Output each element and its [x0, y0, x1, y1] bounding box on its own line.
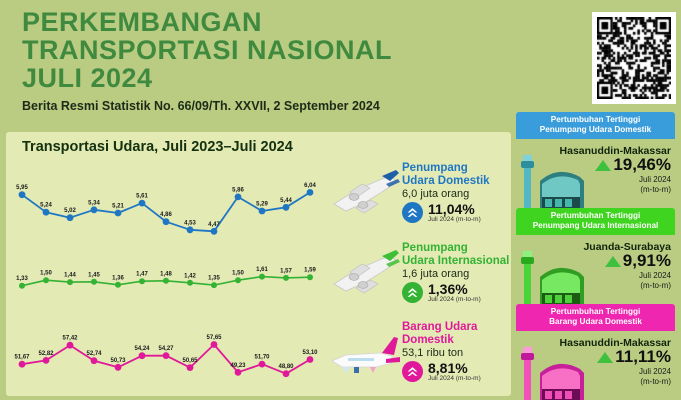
card-info: Hasanuddin-Makassar 11,11% Juli 2024 (m-… [559, 337, 671, 386]
svg-text:5,24: 5,24 [40, 203, 52, 209]
callout-text: Penumpang Udara Internasional 1,6 juta o… [402, 242, 511, 303]
card-header-line-1: Pertumbuhan Tertinggi [551, 211, 640, 220]
card-percent: 19,46% [613, 156, 671, 174]
callout-percent: 8,81% [428, 361, 481, 375]
header: PERKEMBANGAN TRANSPORTASI NASIONAL JULI … [0, 0, 681, 120]
card-body: Hasanuddin-Makassar 11,11% Juli 2024 (m-… [516, 331, 675, 400]
page-title: PERKEMBANGAN TRANSPORTASI NASIONAL JULI … [22, 8, 522, 113]
svg-text:1,36: 1,36 [112, 275, 124, 281]
card-date-sub: (m-to-m) [559, 185, 671, 194]
svg-text:4,53: 4,53 [184, 220, 196, 226]
card-info: Hasanuddin-Makassar 19,46% Juli 2024 (m-… [559, 145, 671, 194]
chart-series-svg: 5,955,245,025,345,215,614,864,534,475,86… [6, 160, 326, 396]
title-line-1: PERKEMBANGAN [22, 8, 522, 36]
svg-text:51,67: 51,67 [14, 355, 30, 361]
double-chevron-up-icon [402, 361, 423, 382]
svg-text:54,27: 54,27 [158, 346, 174, 352]
callout-title-line-1: Penumpang [402, 242, 511, 255]
svg-text:51,70: 51,70 [254, 355, 270, 361]
svg-text:5,21: 5,21 [112, 204, 124, 210]
svg-text:1,35: 1,35 [208, 276, 220, 282]
svg-text:1,50: 1,50 [232, 271, 244, 277]
svg-text:5,86: 5,86 [232, 187, 244, 193]
svg-text:1,48: 1,48 [160, 271, 172, 277]
callout-barang-udara-domestik: Barang Udara Domestik 53,1 ribu ton 8,81… [326, 319, 511, 396]
svg-text:1,47: 1,47 [136, 272, 148, 278]
plane-green-icon [326, 244, 404, 306]
svg-text:1,42: 1,42 [184, 273, 196, 279]
double-chevron-up-icon [402, 202, 423, 223]
svg-text:5,61: 5,61 [136, 194, 148, 200]
svg-text:52,74: 52,74 [86, 351, 102, 357]
triangle-up-icon [605, 256, 621, 267]
triangle-up-icon [595, 160, 611, 171]
svg-text:54,24: 54,24 [134, 346, 150, 352]
card-body: Juanda-Surabaya 9,91% Juli 2024 (m-to-m) [516, 235, 675, 304]
svg-text:1,61: 1,61 [256, 267, 268, 273]
callout-penumpang-udara-domestik: Penumpang Udara Domestik 6,0 juta orang … [326, 160, 511, 239]
callout-value: 53,1 ribu ton [402, 347, 511, 359]
callout-period: Juli 2024 (m-to-m) [428, 296, 481, 303]
card-percent: 11,11% [615, 348, 671, 366]
card-header-line-2: Penumpang Udara Internasional [533, 221, 659, 230]
card-date-sub: (m-to-m) [559, 377, 671, 386]
card-pertumbuhan-penumpang-udara-domestik: Pertumbuhan Tertinggi Penumpang Udara Do… [516, 112, 675, 208]
svg-text:5,02: 5,02 [64, 208, 76, 214]
card-info: Juanda-Surabaya 9,91% Juli 2024 (m-to-m) [559, 241, 671, 290]
callout-title-line-1: Barang Udara [402, 321, 511, 334]
callout-title-line-2: Domestik [402, 334, 511, 347]
svg-text:4,86: 4,86 [160, 212, 172, 218]
qr-code-canvas [597, 17, 671, 99]
qr-code-icon[interactable] [592, 12, 676, 104]
svg-text:50,73: 50,73 [110, 358, 126, 364]
svg-text:57,42: 57,42 [62, 336, 78, 342]
svg-text:50,65: 50,65 [182, 358, 198, 364]
subtitle: Berita Resmi Statistik No. 66/09/Th. XXV… [22, 99, 522, 113]
callout-text: Penumpang Udara Domestik 6,0 juta orang … [402, 162, 511, 223]
callout-title-line-2: Udara Internasional [402, 255, 511, 268]
card-percent: 9,91% [623, 252, 671, 270]
callout-penumpang-udara-internasional: Penumpang Udara Internasional 1,6 juta o… [326, 240, 511, 319]
callout-value: 6,0 juta orang [402, 188, 511, 200]
line-chart-plot: 5,955,245,025,345,215,614,864,534,475,86… [6, 160, 326, 396]
card-header-line-1: Pertumbuhan Tertinggi [551, 115, 640, 124]
callout-title-line-2: Udara Domestik [402, 175, 511, 188]
card-header-line-2: Barang Udara Domestik [549, 317, 642, 326]
title-line-2: TRANSPORTASI NASIONAL [22, 36, 522, 64]
card-header-line-1: Pertumbuhan Tertinggi [551, 307, 640, 316]
card-date-sub: (m-to-m) [559, 281, 671, 290]
card-date: Juli 2024 [559, 367, 671, 376]
svg-text:5,34: 5,34 [88, 200, 100, 206]
callout-percent: 1,36% [428, 282, 481, 296]
svg-text:1,50: 1,50 [40, 271, 52, 277]
svg-text:1,57: 1,57 [280, 268, 292, 274]
chart-panel: Transportasi Udara, Juli 2023–Juli 2024 … [6, 132, 511, 396]
plane-blue-icon [326, 164, 404, 226]
callout-period: Juli 2024 (m-to-m) [428, 216, 481, 223]
svg-text:5,29: 5,29 [256, 202, 268, 208]
svg-text:1,45: 1,45 [88, 272, 100, 278]
callout-value: 1,6 juta orang [402, 268, 511, 280]
card-body: Hasanuddin-Makassar 19,46% Juli 2024 (m-… [516, 139, 675, 208]
svg-text:6,04: 6,04 [304, 183, 316, 189]
triangle-up-icon [597, 352, 613, 363]
callout-title-line-1: Penumpang [402, 162, 511, 175]
card-header: Pertumbuhan Tertinggi Penumpang Udara In… [516, 208, 675, 235]
double-chevron-up-icon [402, 282, 423, 303]
svg-text:53,10: 53,10 [302, 350, 318, 356]
card-pertumbuhan-penumpang-udara-internasional: Pertumbuhan Tertinggi Penumpang Udara In… [516, 208, 675, 304]
card-date: Juli 2024 [559, 175, 671, 184]
svg-text:4,47: 4,47 [208, 222, 220, 228]
callout-text: Barang Udara Domestik 53,1 ribu ton 8,81… [402, 321, 511, 382]
chart-title: Transportasi Udara, Juli 2023–Juli 2024 [22, 139, 293, 155]
card-date: Juli 2024 [559, 271, 671, 280]
plane-pink-icon [326, 323, 404, 385]
svg-text:48,80: 48,80 [278, 364, 294, 370]
svg-text:49,23: 49,23 [230, 363, 246, 369]
card-header: Pertumbuhan Tertinggi Penumpang Udara Do… [516, 112, 675, 139]
svg-text:1,33: 1,33 [16, 276, 28, 282]
card-pertumbuhan-barang-udara-domestik: Pertumbuhan Tertinggi Barang Udara Domes… [516, 304, 675, 400]
svg-text:5,44: 5,44 [280, 198, 292, 204]
svg-text:5,95: 5,95 [16, 185, 28, 191]
callout-percent: 11,04% [428, 202, 481, 216]
sidebar: Pertumbuhan Tertinggi Penumpang Udara Do… [516, 112, 675, 400]
svg-text:1,44: 1,44 [64, 273, 76, 279]
card-header-line-2: Penumpang Udara Domestik [540, 125, 651, 134]
callout-period: Juli 2024 (m-to-m) [428, 375, 481, 382]
svg-text:57,65: 57,65 [206, 335, 222, 341]
card-header: Pertumbuhan Tertinggi Barang Udara Domes… [516, 304, 675, 331]
title-line-3: JULI 2024 [22, 64, 522, 92]
svg-text:52,82: 52,82 [38, 351, 54, 357]
svg-text:1,59: 1,59 [304, 268, 316, 274]
